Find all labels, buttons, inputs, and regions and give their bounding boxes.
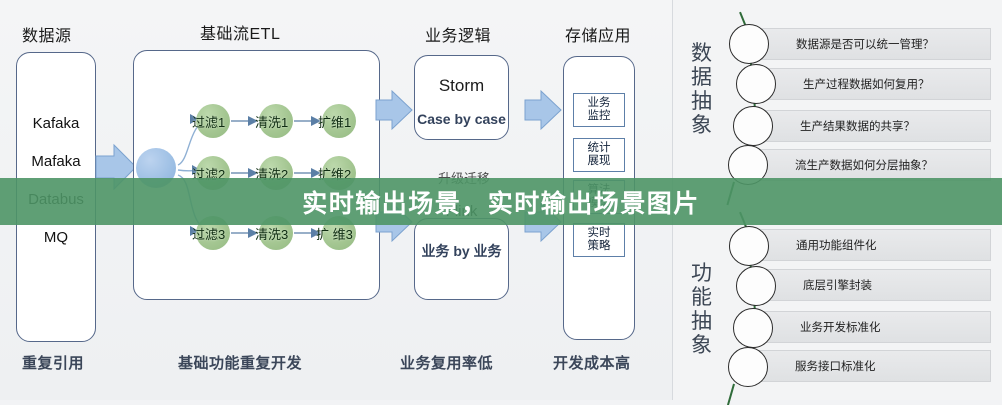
pin-icon-1-2 — [733, 308, 773, 348]
pin-icon-1-1 — [736, 266, 776, 306]
data-source-item-mq: MQ — [17, 229, 95, 246]
question-text-0-3: 流生产数据如何分层抽象？ — [751, 157, 933, 173]
storage-item-label-0: 业务 监控 — [588, 97, 611, 123]
watermark-text: 实时输出场景，实时输出场景图片 — [0, 178, 1002, 225]
storage-item-business-monitor: 业务 监控 — [573, 93, 625, 127]
storm-box: Storm Case by case — [414, 55, 509, 140]
flink-box: 业务 by 业务 — [414, 218, 509, 300]
pin-icon-0-1 — [736, 64, 776, 104]
diagram-canvas: 数据源 基础流ETL 业务逻辑 存储应用 Kafaka Mafaka Datab… — [0, 0, 1002, 400]
question-bar-1-1[interactable]: 底层引擎封装 — [758, 269, 991, 301]
column-header-etl: 基础流ETL — [200, 20, 280, 44]
question-text-1-2: 业务开发标准化 — [756, 319, 881, 335]
pin-icon-0-0 — [729, 24, 769, 64]
storage-item-stat-display: 统计 展现 — [573, 138, 625, 172]
data-source-item-kafaka: Kafaka — [17, 115, 95, 132]
pin-icon-1-0 — [729, 226, 769, 266]
storage-item-label-3: 实时 策略 — [588, 227, 611, 253]
storage-item-label-1: 统计 展现 — [588, 142, 611, 168]
question-bar-0-0[interactable]: 数据源是否可以统一管理？ — [751, 28, 991, 60]
etl-node-label-filter-1: 过滤1 — [192, 112, 225, 131]
caption-duplicate-reference: 重复引用 — [22, 352, 84, 373]
storm-note: Case by case — [415, 111, 508, 127]
flink-note: 业务 by 业务 — [415, 241, 508, 261]
question-text-1-0: 通用功能组件化 — [752, 237, 877, 253]
storage-item-realtime-strategy: 实时 策略 — [573, 223, 625, 257]
group-label-function-abstraction: 功能抽象 — [685, 262, 719, 358]
etl-node-label-filter-3: 过滤3 — [192, 224, 225, 243]
column-header-data-source: 数据源 — [22, 22, 72, 46]
question-bar-1-2[interactable]: 业务开发标准化 — [755, 311, 991, 343]
etl-node-label-expand-1: 扩维1 — [318, 112, 351, 131]
data-source-item-mafaka: Mafaka — [17, 153, 95, 170]
question-bar-1-0[interactable]: 通用功能组件化 — [751, 229, 991, 261]
group-label-data-abstraction: 数据抽象 — [685, 42, 719, 138]
caption-low-reuse-rate: 业务复用率低 — [400, 352, 493, 373]
pin-icon-0-2 — [733, 106, 773, 146]
block-arrow-storm-to-storage — [523, 88, 563, 132]
pin-stem-1-tail — [727, 384, 735, 405]
caption-duplicate-development: 基础功能重复开发 — [178, 352, 302, 373]
question-bar-0-3[interactable]: 流生产数据如何分层抽象？ — [750, 149, 991, 181]
storm-name: Storm — [415, 76, 508, 96]
question-text-0-1: 生产过程数据如何复用？ — [759, 76, 930, 92]
question-text-0-2: 生产结果数据的共享？ — [756, 118, 915, 134]
etl-node-label-clean-1: 清洗1 — [255, 112, 288, 131]
block-arrow-etl-to-storm — [374, 88, 414, 132]
question-bar-1-3[interactable]: 服务接口标准化 — [750, 350, 991, 382]
etl-node-label-clean-3: 清洗3 — [255, 224, 288, 243]
question-bar-0-2[interactable]: 生产结果数据的共享？ — [755, 110, 991, 142]
column-header-storage-app: 存储应用 — [565, 22, 631, 46]
question-text-1-3: 服务接口标准化 — [751, 358, 876, 374]
caption-high-dev-cost: 开发成本高 — [553, 352, 631, 373]
pin-icon-1-3 — [728, 347, 768, 387]
etl-node-label-expand-3: 扩 维3 — [316, 224, 353, 243]
question-text-0-0: 数据源是否可以统一管理？ — [752, 36, 934, 52]
question-bar-0-1[interactable]: 生产过程数据如何复用？ — [758, 68, 991, 100]
column-header-business-logic: 业务逻辑 — [425, 22, 491, 46]
